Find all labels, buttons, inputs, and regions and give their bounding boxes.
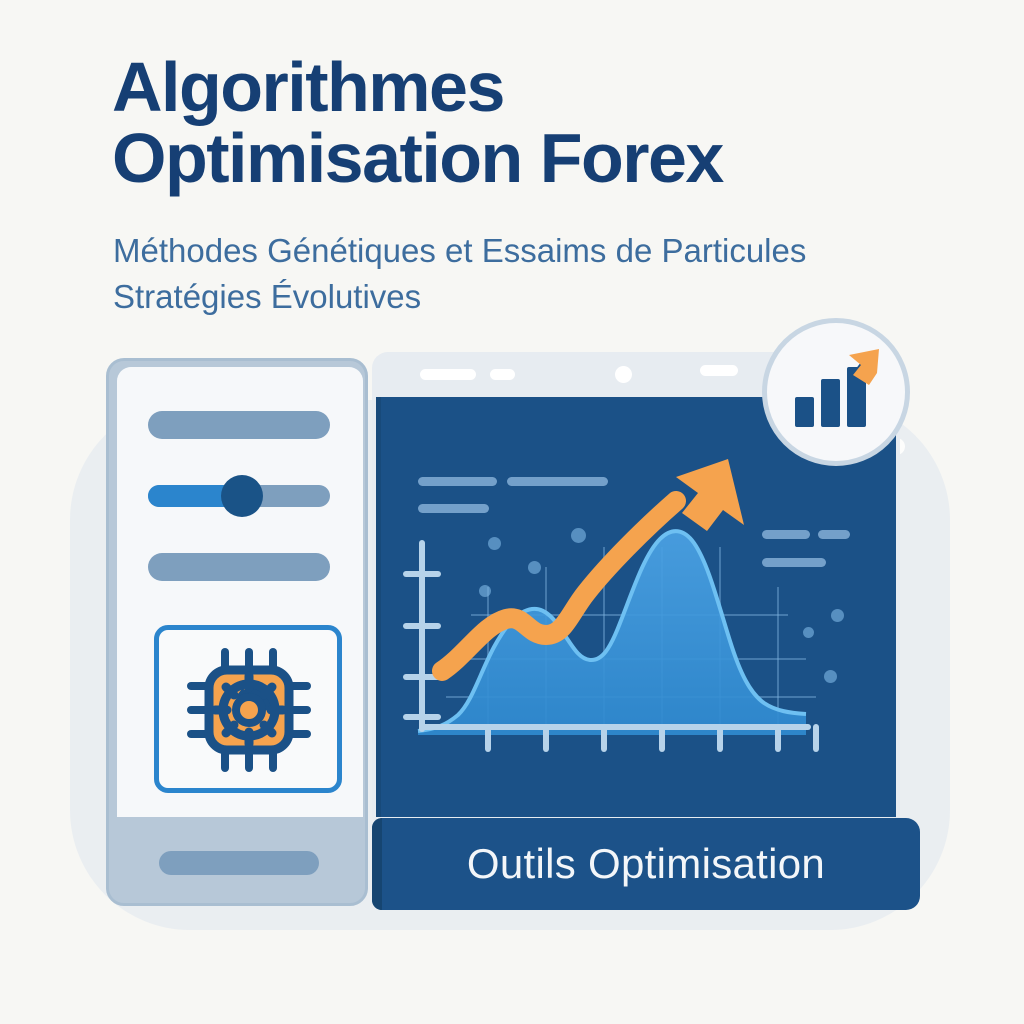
panel-bar-middle[interactable] — [148, 553, 330, 581]
panel-bar-top[interactable] — [148, 411, 330, 439]
slider-knob[interactable] — [221, 475, 263, 517]
poster-canvas: Algorithmes Optimisation Forex Méthodes … — [0, 0, 1024, 1024]
topbar-dot — [615, 366, 632, 383]
bottom-banner[interactable]: Outils Optimisation — [372, 818, 920, 910]
growth-chart-badge[interactable] — [762, 318, 910, 466]
topbar-pill-small — [490, 369, 515, 380]
subtitle-line-1: Méthodes Génétiques et Essaims de Partic… — [113, 228, 993, 274]
title-line-1: Algorithmes — [112, 52, 952, 123]
control-panel-body — [117, 367, 363, 817]
topbar-pill-medium — [700, 365, 738, 376]
control-panel[interactable] — [106, 358, 368, 906]
title-line-2: Optimisation Forex — [112, 123, 952, 194]
panel-footer-pill[interactable] — [159, 851, 319, 875]
subtitle-line-2: Stratégies Évolutives — [113, 274, 993, 320]
page-subtitle: Méthodes Génétiques et Essaims de Partic… — [113, 228, 993, 319]
banner-label: Outils Optimisation — [372, 818, 920, 910]
processor-card[interactable] — [154, 625, 342, 793]
page-title: Algorithmes Optimisation Forex — [112, 52, 952, 195]
topbar-pill-wide — [420, 369, 476, 380]
